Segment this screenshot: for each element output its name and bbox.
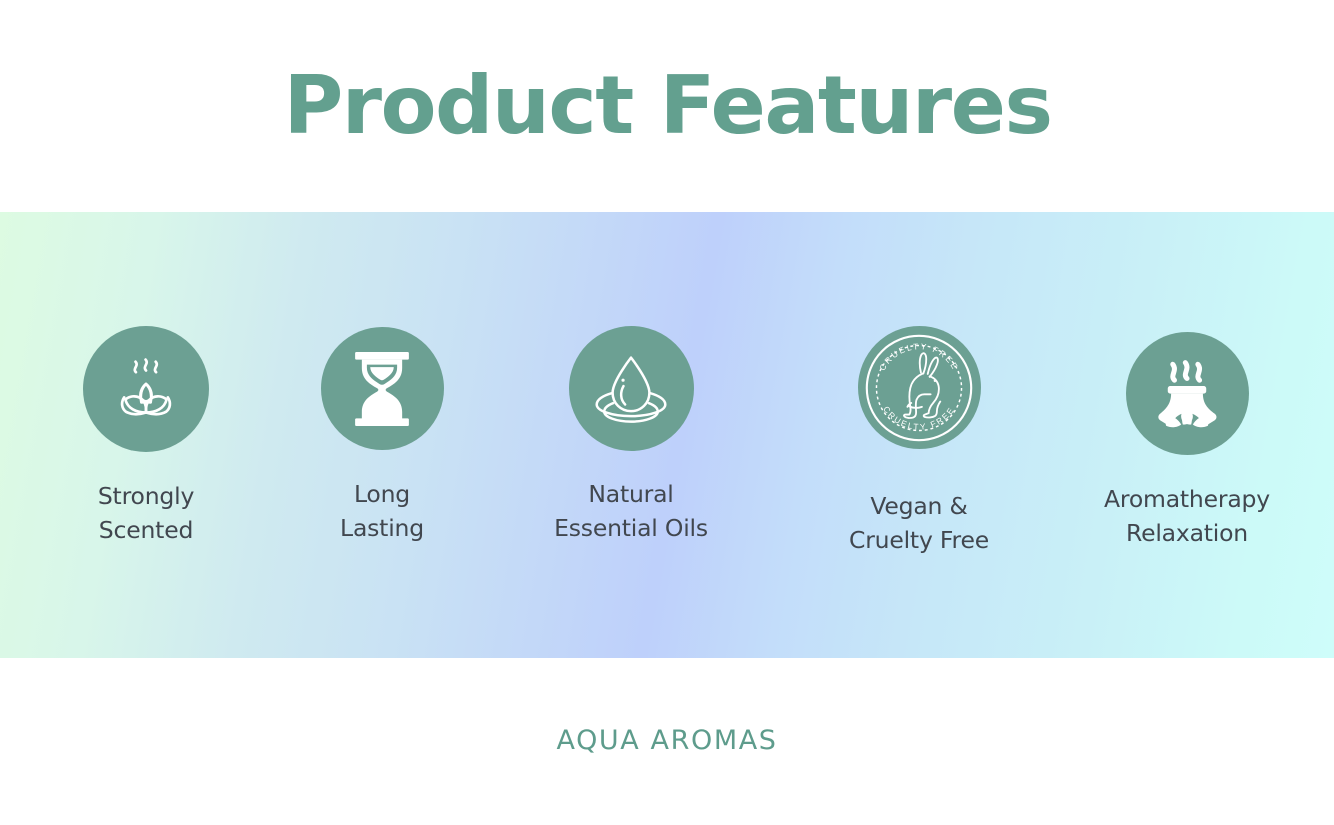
feature-item-long-lasting[interactable]: Long Lasting: [257, 327, 507, 545]
footer-area: AQUA AROMAS: [0, 658, 1334, 825]
water-droplet-ripples-icon: [585, 349, 677, 429]
features-band: Strongly Scented Long Lasting: [0, 212, 1334, 658]
feature-item-strongly-scented[interactable]: Strongly Scented: [21, 326, 271, 547]
hourglass-icon: [346, 347, 418, 431]
feature-label-long-lasting: Long Lasting: [340, 477, 424, 545]
icon-circle-strongly-scented: [83, 326, 209, 452]
product-features-slide: Product Features: [0, 0, 1334, 825]
feature-label-strongly-scented: Strongly Scented: [98, 479, 194, 547]
feature-item-natural-essential-oils[interactable]: Natural Essential Oils: [506, 326, 756, 545]
feature-label-natural-essential-oils: Natural Essential Oils: [554, 477, 708, 545]
cruelty-free-rabbit-badge-icon: CRUELTY FREE CRUELTY FREE: [861, 330, 977, 446]
feature-item-vegan-cruelty-free[interactable]: CRUELTY FREE CRUELTY FREE: [794, 326, 1044, 557]
page-title: Product Features: [283, 66, 1051, 146]
feature-label-aromatherapy-relaxation: Aromatherapy Relaxation: [1104, 482, 1270, 550]
icon-circle-long-lasting: [321, 327, 444, 450]
aroma-diffuser-icon: [1141, 350, 1233, 438]
brand-name: AQUA AROMAS: [556, 725, 777, 756]
icon-circle-natural-essential-oils: [569, 326, 694, 451]
icon-circle-vegan-cruelty-free: CRUELTY FREE CRUELTY FREE: [858, 326, 981, 449]
feature-label-vegan-cruelty-free: Vegan & Cruelty Free: [849, 489, 989, 557]
features-row: Strongly Scented Long Lasting: [0, 212, 1334, 658]
lotus-with-scent-lines-icon: [104, 347, 188, 431]
feature-item-aromatherapy-relaxation[interactable]: Aromatherapy Relaxation: [1062, 332, 1312, 550]
icon-circle-aromatherapy-relaxation: [1126, 332, 1249, 455]
title-area: Product Features: [0, 0, 1334, 212]
